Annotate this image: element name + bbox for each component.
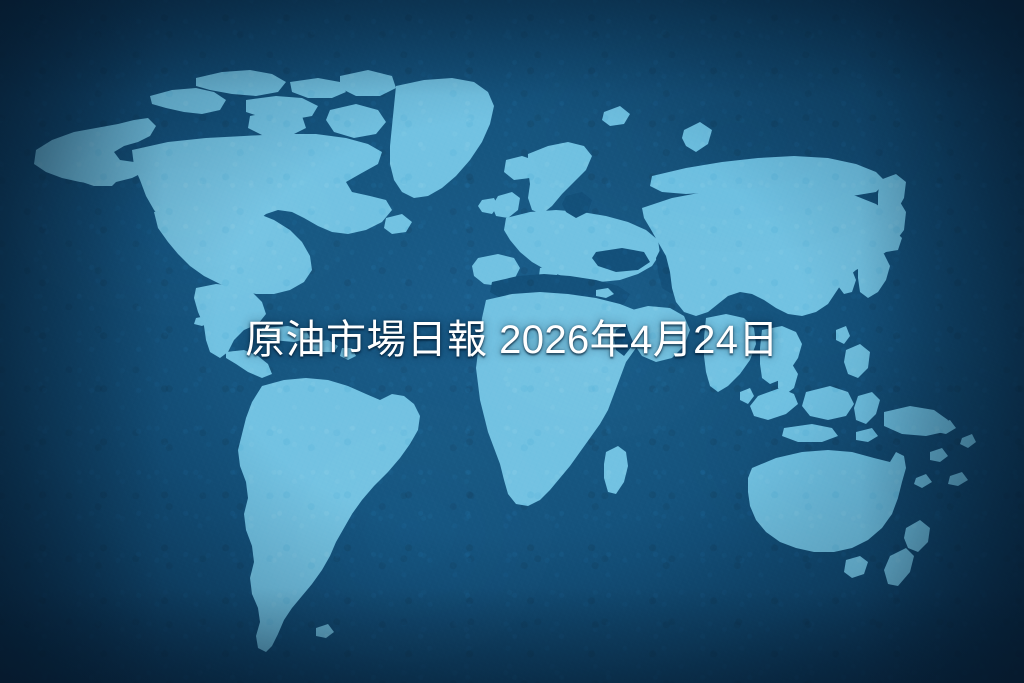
- title-slide: 原油市場日報 2026年4月24日: [0, 0, 1024, 683]
- texture-fiber-layer: [0, 0, 1024, 683]
